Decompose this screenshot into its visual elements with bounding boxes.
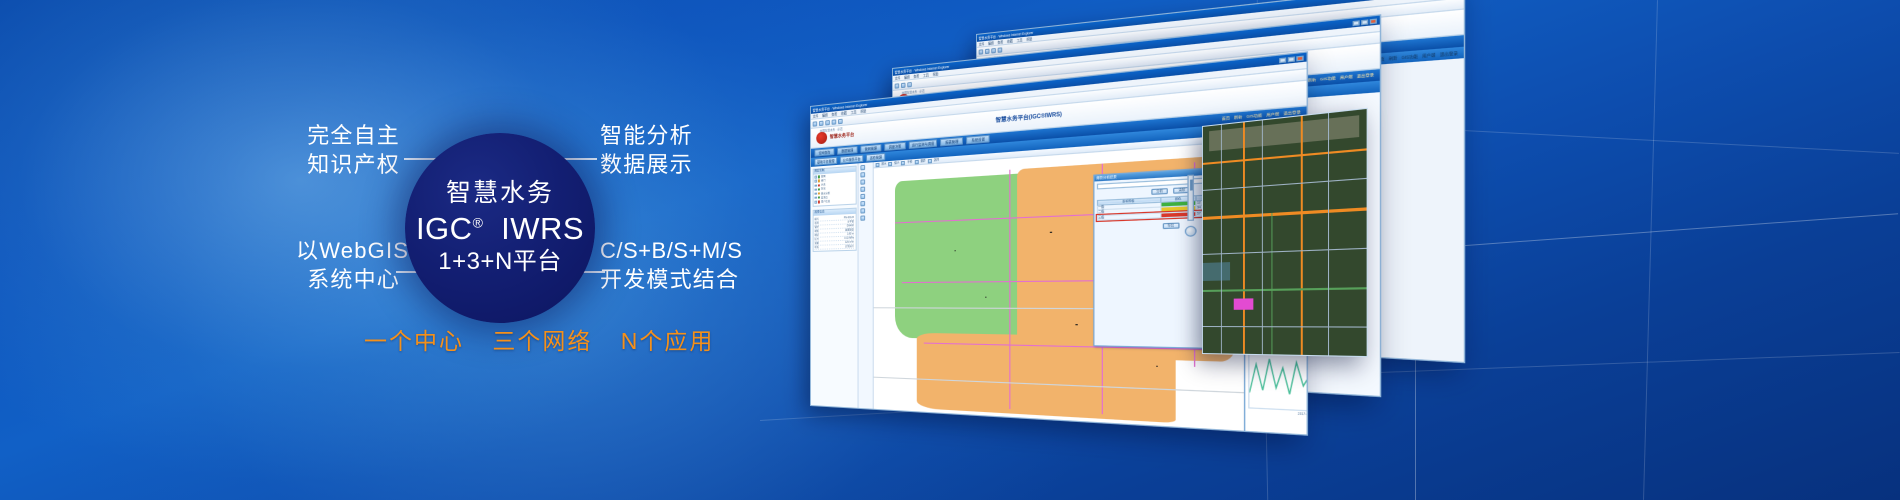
- close-icon[interactable]: [1296, 55, 1303, 61]
- nav-link-refresh[interactable]: 刷新: [1389, 55, 1398, 61]
- feature-top-left-line2: 知识产权: [300, 150, 400, 179]
- layer-label: 泵站: [821, 187, 826, 190]
- layer-color-swatch: [818, 184, 820, 187]
- print-tool-icon[interactable]: [860, 215, 865, 220]
- map-block-water: [1203, 262, 1230, 281]
- nav-link-refresh[interactable]: 刷新: [1234, 115, 1242, 120]
- map-pipe-v1: [1009, 169, 1010, 408]
- forward-arrow-icon[interactable]: [819, 120, 824, 125]
- forward-arrow-icon[interactable]: [901, 82, 906, 87]
- menu-item-edit[interactable]: 编辑: [988, 41, 994, 46]
- menu-item-tools[interactable]: 工具: [851, 110, 857, 115]
- nav-link-refresh[interactable]: 刷新: [1308, 78, 1316, 83]
- nav2-button-inspection[interactable]: 巡检管理: [866, 153, 885, 161]
- dialog-analyze-button[interactable]: 分析: [1151, 188, 1168, 195]
- menu-item-view[interactable]: 查看: [997, 40, 1003, 45]
- feature-top-left-line1: 完全自主: [300, 121, 400, 150]
- checkbox-icon[interactable]: [814, 201, 816, 204]
- menu-item-file[interactable]: 文件: [813, 114, 819, 119]
- map-tool-palette[interactable]: [859, 162, 874, 416]
- layer-color-swatch: [818, 196, 820, 199]
- label-tool-icon[interactable]: [860, 208, 865, 213]
- refresh-icon[interactable]: [991, 47, 996, 53]
- map-road-green-h: [1203, 287, 1367, 292]
- status-scale: 比例尺 1:5000: [886, 413, 901, 417]
- layer-color-swatch: [818, 180, 820, 183]
- nav-link-logout[interactable]: 退出登录: [1357, 73, 1374, 79]
- banner-stage: 完全自主 知识产权 以WebGIS 系统中心 智能分析 数据展示 C/S+B/S…: [0, 0, 1900, 500]
- attribute-panel: 属性信息 编号PN-00123 名称主干管 管径DN400 材质球墨铸铁 埋深1…: [812, 208, 856, 252]
- brand-name-front: 智慧水务平台: [830, 132, 854, 140]
- map-node[interactable]: [1157, 365, 1159, 366]
- nav-button-dispatch[interactable]: 调度决策: [884, 142, 906, 151]
- checkbox-icon[interactable]: [814, 192, 816, 195]
- checkbox-icon[interactable]: [814, 180, 816, 183]
- zoom-out-tool-icon[interactable]: [860, 186, 865, 191]
- feature-bottom-right-line1: C/S+B/S+M/S: [600, 236, 742, 265]
- print-icon[interactable]: [838, 118, 843, 124]
- layer-label: 用户信息: [821, 200, 830, 204]
- map-selection-highlight: [1233, 298, 1253, 310]
- attribute-key: 编号: [814, 217, 818, 220]
- map-road-main-v2: [1301, 116, 1303, 355]
- attribute-value: 0.32 MPa: [844, 236, 854, 239]
- menu-item-help[interactable]: 帮助: [933, 72, 939, 77]
- feature-top-right-line1: 智能分析: [600, 121, 693, 150]
- feature-bottom-left: 以WebGIS 系统中心: [296, 236, 400, 294]
- attribute-value: 1.85 m: [847, 232, 854, 235]
- menu-item-view[interactable]: 查看: [831, 112, 837, 117]
- satellite-map-canvas[interactable]: [1203, 109, 1367, 356]
- feature-bottom-right: C/S+B/S+M/S 开发模式结合: [600, 236, 742, 294]
- feature-top-right-line2: 数据展示: [600, 150, 693, 179]
- home-icon[interactable]: [832, 119, 837, 125]
- layer-color-swatch: [818, 192, 820, 195]
- tagline-item-1: 一个中心: [364, 328, 464, 354]
- feature-bottom-right-line2: 开发模式结合: [600, 265, 742, 294]
- back-arrow-icon[interactable]: [895, 83, 899, 88]
- map-road-minor-v1: [1221, 125, 1222, 354]
- menu-item-favorites[interactable]: 收藏: [1007, 39, 1013, 44]
- spark-chart-svg: [1250, 350, 1307, 414]
- nav-link-gis[interactable]: GIS功能: [1401, 54, 1417, 60]
- attribute-value: 126 m³/h: [845, 240, 854, 243]
- menu-item-view[interactable]: 查看: [913, 74, 919, 79]
- menu-item-edit[interactable]: 编辑: [904, 75, 910, 80]
- app-screenshot-stack: 智慧水务平台 - Windows Internet Explorer 文件 编辑…: [780, 40, 1520, 370]
- menu-item-tools[interactable]: 工具: [923, 73, 929, 78]
- refresh-icon[interactable]: [825, 119, 830, 125]
- zoom-in-tool-icon[interactable]: [860, 179, 865, 184]
- map-tool-label-zoomout[interactable]: 缩小: [894, 161, 899, 165]
- pan-tool-icon[interactable]: [860, 172, 865, 177]
- pointer-tool-icon[interactable]: [860, 164, 865, 169]
- maximize-icon[interactable]: [1361, 19, 1368, 25]
- menu-item-file[interactable]: 文件: [895, 76, 901, 81]
- map-zone-green: [895, 174, 1025, 340]
- close-icon[interactable]: [1370, 18, 1377, 24]
- attribute-key: 埋深: [814, 234, 818, 237]
- zoom-in-icon[interactable]: [876, 162, 880, 166]
- layer-label: 供水分区: [821, 191, 830, 195]
- attribute-key: 名称: [814, 221, 818, 224]
- attribute-value: 正常运行: [845, 245, 854, 248]
- menu-item-edit[interactable]: 编辑: [822, 113, 828, 118]
- map-tool-label-measure[interactable]: 量距: [920, 159, 925, 163]
- attribute-row: 状态正常运行: [814, 245, 853, 250]
- status-coords: 坐标 X:3512 Y:4208: [908, 414, 930, 419]
- maximize-icon[interactable]: [1288, 56, 1295, 62]
- minimize-icon[interactable]: [1353, 20, 1360, 26]
- layer-label: 监测点: [821, 196, 828, 200]
- map-zoom-slider-thumb[interactable]: [1190, 179, 1193, 190]
- refresh-icon[interactable]: [907, 81, 912, 87]
- map-node[interactable]: [985, 297, 986, 298]
- menu-item-file[interactable]: 文件: [979, 42, 985, 47]
- map-road-green-v: [1271, 213, 1272, 354]
- spark-axis-label: 2017-08-24 00:00 ~ 24:00: [1245, 411, 1306, 422]
- attribute-value: 球墨铸铁: [845, 228, 854, 231]
- map-tool-label-pan[interactable]: 平移: [907, 160, 912, 164]
- map-road-minor-h1: [1203, 178, 1367, 191]
- measure-tool-icon[interactable]: [860, 193, 865, 198]
- layer-color-swatch: [818, 176, 820, 179]
- zoom-out-icon[interactable]: [888, 161, 892, 165]
- attribute-value: DN400: [847, 224, 854, 227]
- map-road-minor-v3: [1328, 113, 1329, 355]
- map-road-minor-h3: [1203, 326, 1367, 328]
- status-user: 用户: admin: [936, 416, 950, 420]
- badge-title-cn: 智慧水务: [446, 179, 554, 208]
- menu-item-tools[interactable]: 工具: [1017, 38, 1023, 43]
- grid-line-v3: [1643, 0, 1658, 500]
- dialog-export-button[interactable]: 导出: [1162, 223, 1179, 230]
- badge-product-igc: IGC: [416, 211, 473, 246]
- attribute-value: 主干管: [847, 220, 854, 223]
- select-icon[interactable]: [928, 158, 932, 163]
- nav-link-logout[interactable]: 退出登录: [1440, 50, 1458, 56]
- nav-button-spatial-query[interactable]: 空间查询: [814, 148, 834, 156]
- nav-link-user[interactable]: 用户端: [1340, 75, 1353, 81]
- app-window-satellite-map[interactable]: [1202, 108, 1368, 357]
- registered-trademark-icon: ®: [473, 214, 483, 230]
- layer-color-swatch: [818, 200, 820, 203]
- feature-top-right: 智能分析 数据展示: [600, 121, 693, 179]
- nav-link-user[interactable]: 用户端: [1422, 52, 1435, 58]
- map-node[interactable]: [1076, 324, 1077, 325]
- map-road-main-v1: [1243, 122, 1245, 353]
- checkbox-icon[interactable]: [814, 176, 816, 179]
- feature-top-left: 完全自主 知识产权: [300, 121, 400, 179]
- badge-product-iwrs: IWRS: [501, 211, 584, 246]
- map-node[interactable]: [954, 250, 955, 251]
- map-tool-label-zoomin[interactable]: 放大: [881, 162, 886, 166]
- checkbox-icon[interactable]: [814, 196, 816, 199]
- tagline-item-2: 三个网络: [492, 328, 592, 354]
- attribute-key: 管径: [814, 226, 818, 229]
- cell-level: 三级: [1097, 213, 1160, 221]
- map-road-main-h2: [1203, 208, 1367, 220]
- ruler-icon[interactable]: [914, 159, 918, 164]
- attribute-key: 状态: [814, 246, 818, 249]
- tagline-item-3: N个应用: [621, 328, 715, 354]
- attribute-key: 材质: [814, 230, 818, 233]
- menu-item-favorites[interactable]: 收藏: [841, 111, 847, 116]
- left-sidebar: 图层控制 管网 阀门 水表 泵站 供水分区 监测点 用户信息 属性信息: [811, 163, 859, 415]
- forward-arrow-icon[interactable]: [985, 48, 990, 53]
- nav-button-data-mgmt[interactable]: 数据管理: [837, 146, 857, 154]
- pan-icon[interactable]: [901, 160, 905, 165]
- map-road-minor-h2: [1203, 247, 1367, 254]
- attribute-key: 流量: [814, 242, 818, 245]
- nav-button-settings[interactable]: 系统设置: [966, 135, 990, 144]
- tagline: 一个中心 三个网络 N个应用: [364, 322, 714, 356]
- status-ready: 就绪: [876, 412, 881, 416]
- attribute-key: 压力: [814, 238, 818, 241]
- badge-platform: 1+3+N平台: [438, 248, 562, 277]
- nav-button-reports[interactable]: 报表管理: [940, 137, 963, 146]
- menu-item-help[interactable]: 帮助: [1026, 37, 1032, 42]
- badge-product-name: IGC® IWRS: [416, 212, 584, 247]
- home-icon[interactable]: [998, 47, 1003, 53]
- identify-tool-icon[interactable]: [860, 201, 865, 206]
- spark-chart: [1248, 349, 1306, 415]
- product-badge: 智慧水务 IGC® IWRS 1+3+N平台: [405, 133, 595, 323]
- attribute-list: 编号PN-00123 名称主干管 管径DN400 材质球墨铸铁 埋深1.85 m…: [813, 214, 855, 251]
- checkbox-icon[interactable]: [814, 188, 816, 191]
- nav-link-gis[interactable]: GIS功能: [1320, 76, 1335, 82]
- layer-panel: 图层控制 管网 阀门 水表 泵站 供水分区 监测点 用户信息: [812, 165, 856, 207]
- nav-button-pipe-mgmt[interactable]: 管网管理: [860, 144, 881, 152]
- menu-item-help[interactable]: 帮助: [860, 109, 866, 114]
- minimize-icon[interactable]: [1279, 57, 1286, 63]
- layer-list[interactable]: 管网 阀门 水表 泵站 供水分区 监测点 用户信息: [813, 171, 855, 206]
- map-road-minor-v2: [1262, 120, 1263, 354]
- map-tool-label-select[interactable]: 选择: [934, 158, 939, 162]
- feature-bottom-left-line1: 以WebGIS: [296, 236, 400, 265]
- map-zoom-slider-front[interactable]: [1188, 174, 1195, 221]
- nav-link-home[interactable]: 首页: [1222, 116, 1230, 121]
- platform-title-front: 智慧水务平台(IGC®IWRS): [996, 112, 1062, 125]
- map-road-main-h1: [1203, 149, 1367, 166]
- back-arrow-icon[interactable]: [979, 49, 983, 54]
- checkbox-icon[interactable]: [814, 184, 816, 187]
- attribute-value: PN-00123: [844, 216, 854, 220]
- back-arrow-icon[interactable]: [813, 121, 817, 126]
- map-node[interactable]: [1050, 232, 1051, 233]
- layer-label: 管网: [821, 175, 826, 178]
- layer-color-swatch: [818, 188, 820, 191]
- feature-bottom-left-line2: 系统中心: [296, 265, 400, 294]
